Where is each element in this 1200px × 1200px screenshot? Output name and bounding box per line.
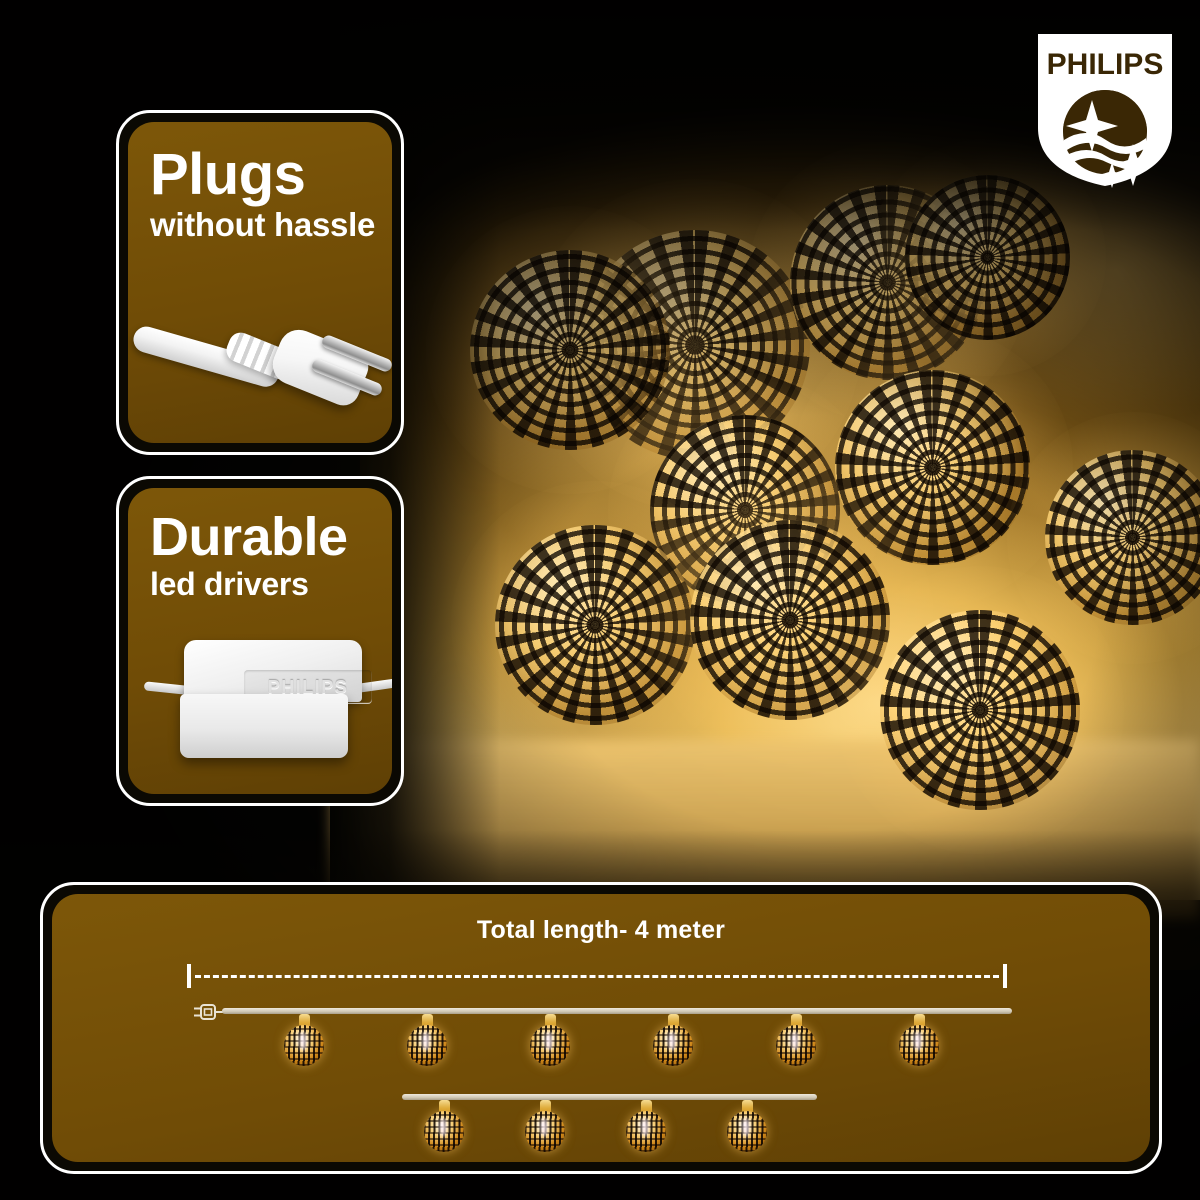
- bulb: [284, 1014, 324, 1066]
- feature-card-plugs-subtitle: without hassle: [150, 208, 375, 241]
- string-wire-top: [222, 1008, 1012, 1014]
- bulb: [776, 1014, 816, 1066]
- driver-front-face: [180, 694, 348, 758]
- philips-shield-icon: PHILIPS: [1032, 28, 1178, 190]
- dimension-indicator: [187, 964, 1007, 988]
- bulb: [424, 1100, 464, 1152]
- feature-card-plugs-body: Plugs without hassle: [128, 122, 392, 443]
- spec-panel-title: Total length- 4 meter: [52, 916, 1150, 945]
- bulb: [530, 1014, 570, 1066]
- bulb: [899, 1014, 939, 1066]
- feature-card-durable[interactable]: Durable led drivers PHILIPS: [116, 476, 404, 806]
- driver-top-face: PHILIPS: [184, 640, 362, 702]
- philips-wordmark: PHILIPS: [1047, 48, 1164, 81]
- bulb: [525, 1100, 565, 1152]
- product-infographic: PHILIPS Plugs without hassle: [0, 0, 1200, 1200]
- bulb: [653, 1014, 693, 1066]
- bulb: [407, 1014, 447, 1066]
- feature-card-plugs[interactable]: Plugs without hassle: [116, 110, 404, 455]
- feature-card-durable-title: Durable: [150, 510, 348, 564]
- spec-panel[interactable]: Total length- 4 meter: [40, 882, 1162, 1174]
- feature-card-durable-subtitle: led drivers: [150, 568, 309, 600]
- feature-card-plugs-title: Plugs: [150, 146, 305, 204]
- feature-card-durable-body: Durable led drivers PHILIPS: [128, 488, 392, 794]
- dimension-cap-right: [1003, 964, 1007, 988]
- bulb: [727, 1100, 767, 1152]
- dimension-dashed-line: [195, 975, 999, 978]
- led-driver-box-icon: PHILIPS: [150, 622, 392, 772]
- bulb: [626, 1100, 666, 1152]
- dimension-cap-left: [187, 964, 191, 988]
- spec-panel-body: Total length- 4 meter: [52, 894, 1150, 1162]
- power-plug-icon: [134, 289, 392, 419]
